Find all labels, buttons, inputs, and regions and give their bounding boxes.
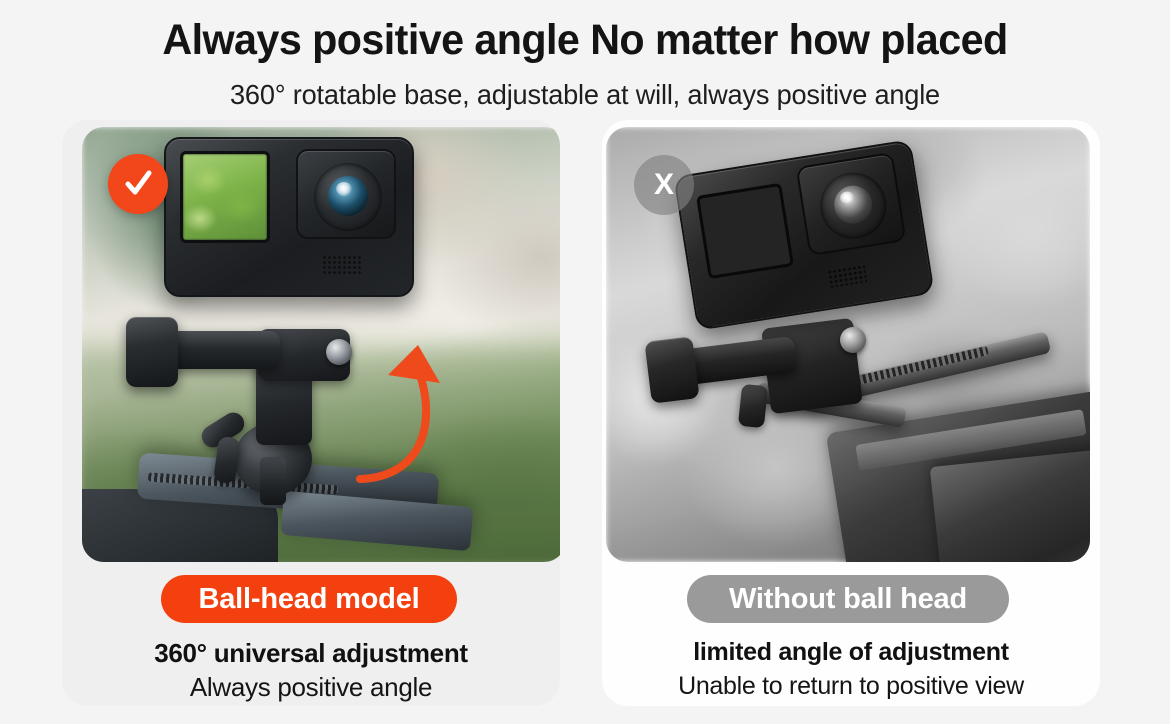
caption-primary-right: limited angle of adjustment <box>602 638 1100 667</box>
panel-without-ball-head: X Without ball head limited angle of adj… <box>602 120 1100 706</box>
bag-body <box>930 447 1090 562</box>
panel-ball-head: Ball-head model 360° universal adjustmen… <box>62 120 560 706</box>
camera-front-screen <box>180 151 270 243</box>
thumb-screw <box>326 339 352 365</box>
page-subtitle: 360° rotatable base, adjustable at will,… <box>18 78 1153 112</box>
camera-microphone-grille <box>322 255 362 275</box>
ball-head-stem <box>260 457 286 505</box>
photo-ball-head <box>82 127 560 562</box>
pill-without-ball-head: Without ball head <box>687 575 1009 623</box>
camera-lens-barrel <box>816 168 892 244</box>
thumb-screw <box>840 327 866 353</box>
lens-glint <box>336 182 352 196</box>
product-feature-banner: Always positive angle No matter how plac… <box>0 0 1170 724</box>
caption-primary-left: 360° universal adjustment <box>62 638 560 669</box>
check-icon <box>122 168 154 200</box>
screen-preview-image <box>183 154 267 240</box>
cross-badge: X <box>634 155 694 215</box>
camera-lens-glass <box>831 183 874 226</box>
tightening-knob <box>126 317 178 387</box>
camera-lens-barrel <box>314 163 382 231</box>
camera-lens-housing <box>296 149 396 239</box>
pill-ball-head-model: Ball-head model <box>161 575 457 623</box>
caption-secondary-right: Unable to return to positive view <box>602 672 1100 701</box>
lens-glint <box>839 191 855 205</box>
dashboard-pad-right <box>280 491 473 551</box>
tightening-knob <box>644 336 699 403</box>
camera-front-screen <box>696 183 794 279</box>
photo-without-ball-head: X <box>606 127 1090 562</box>
caption-secondary-left: Always positive angle <box>62 672 560 703</box>
page-title: Always positive angle No matter how plac… <box>23 16 1146 64</box>
extension-arm <box>164 331 280 369</box>
clip-tab <box>738 384 768 428</box>
check-badge <box>108 154 168 214</box>
camera-lens-housing <box>796 152 907 256</box>
camera-lens-glass <box>328 176 368 216</box>
